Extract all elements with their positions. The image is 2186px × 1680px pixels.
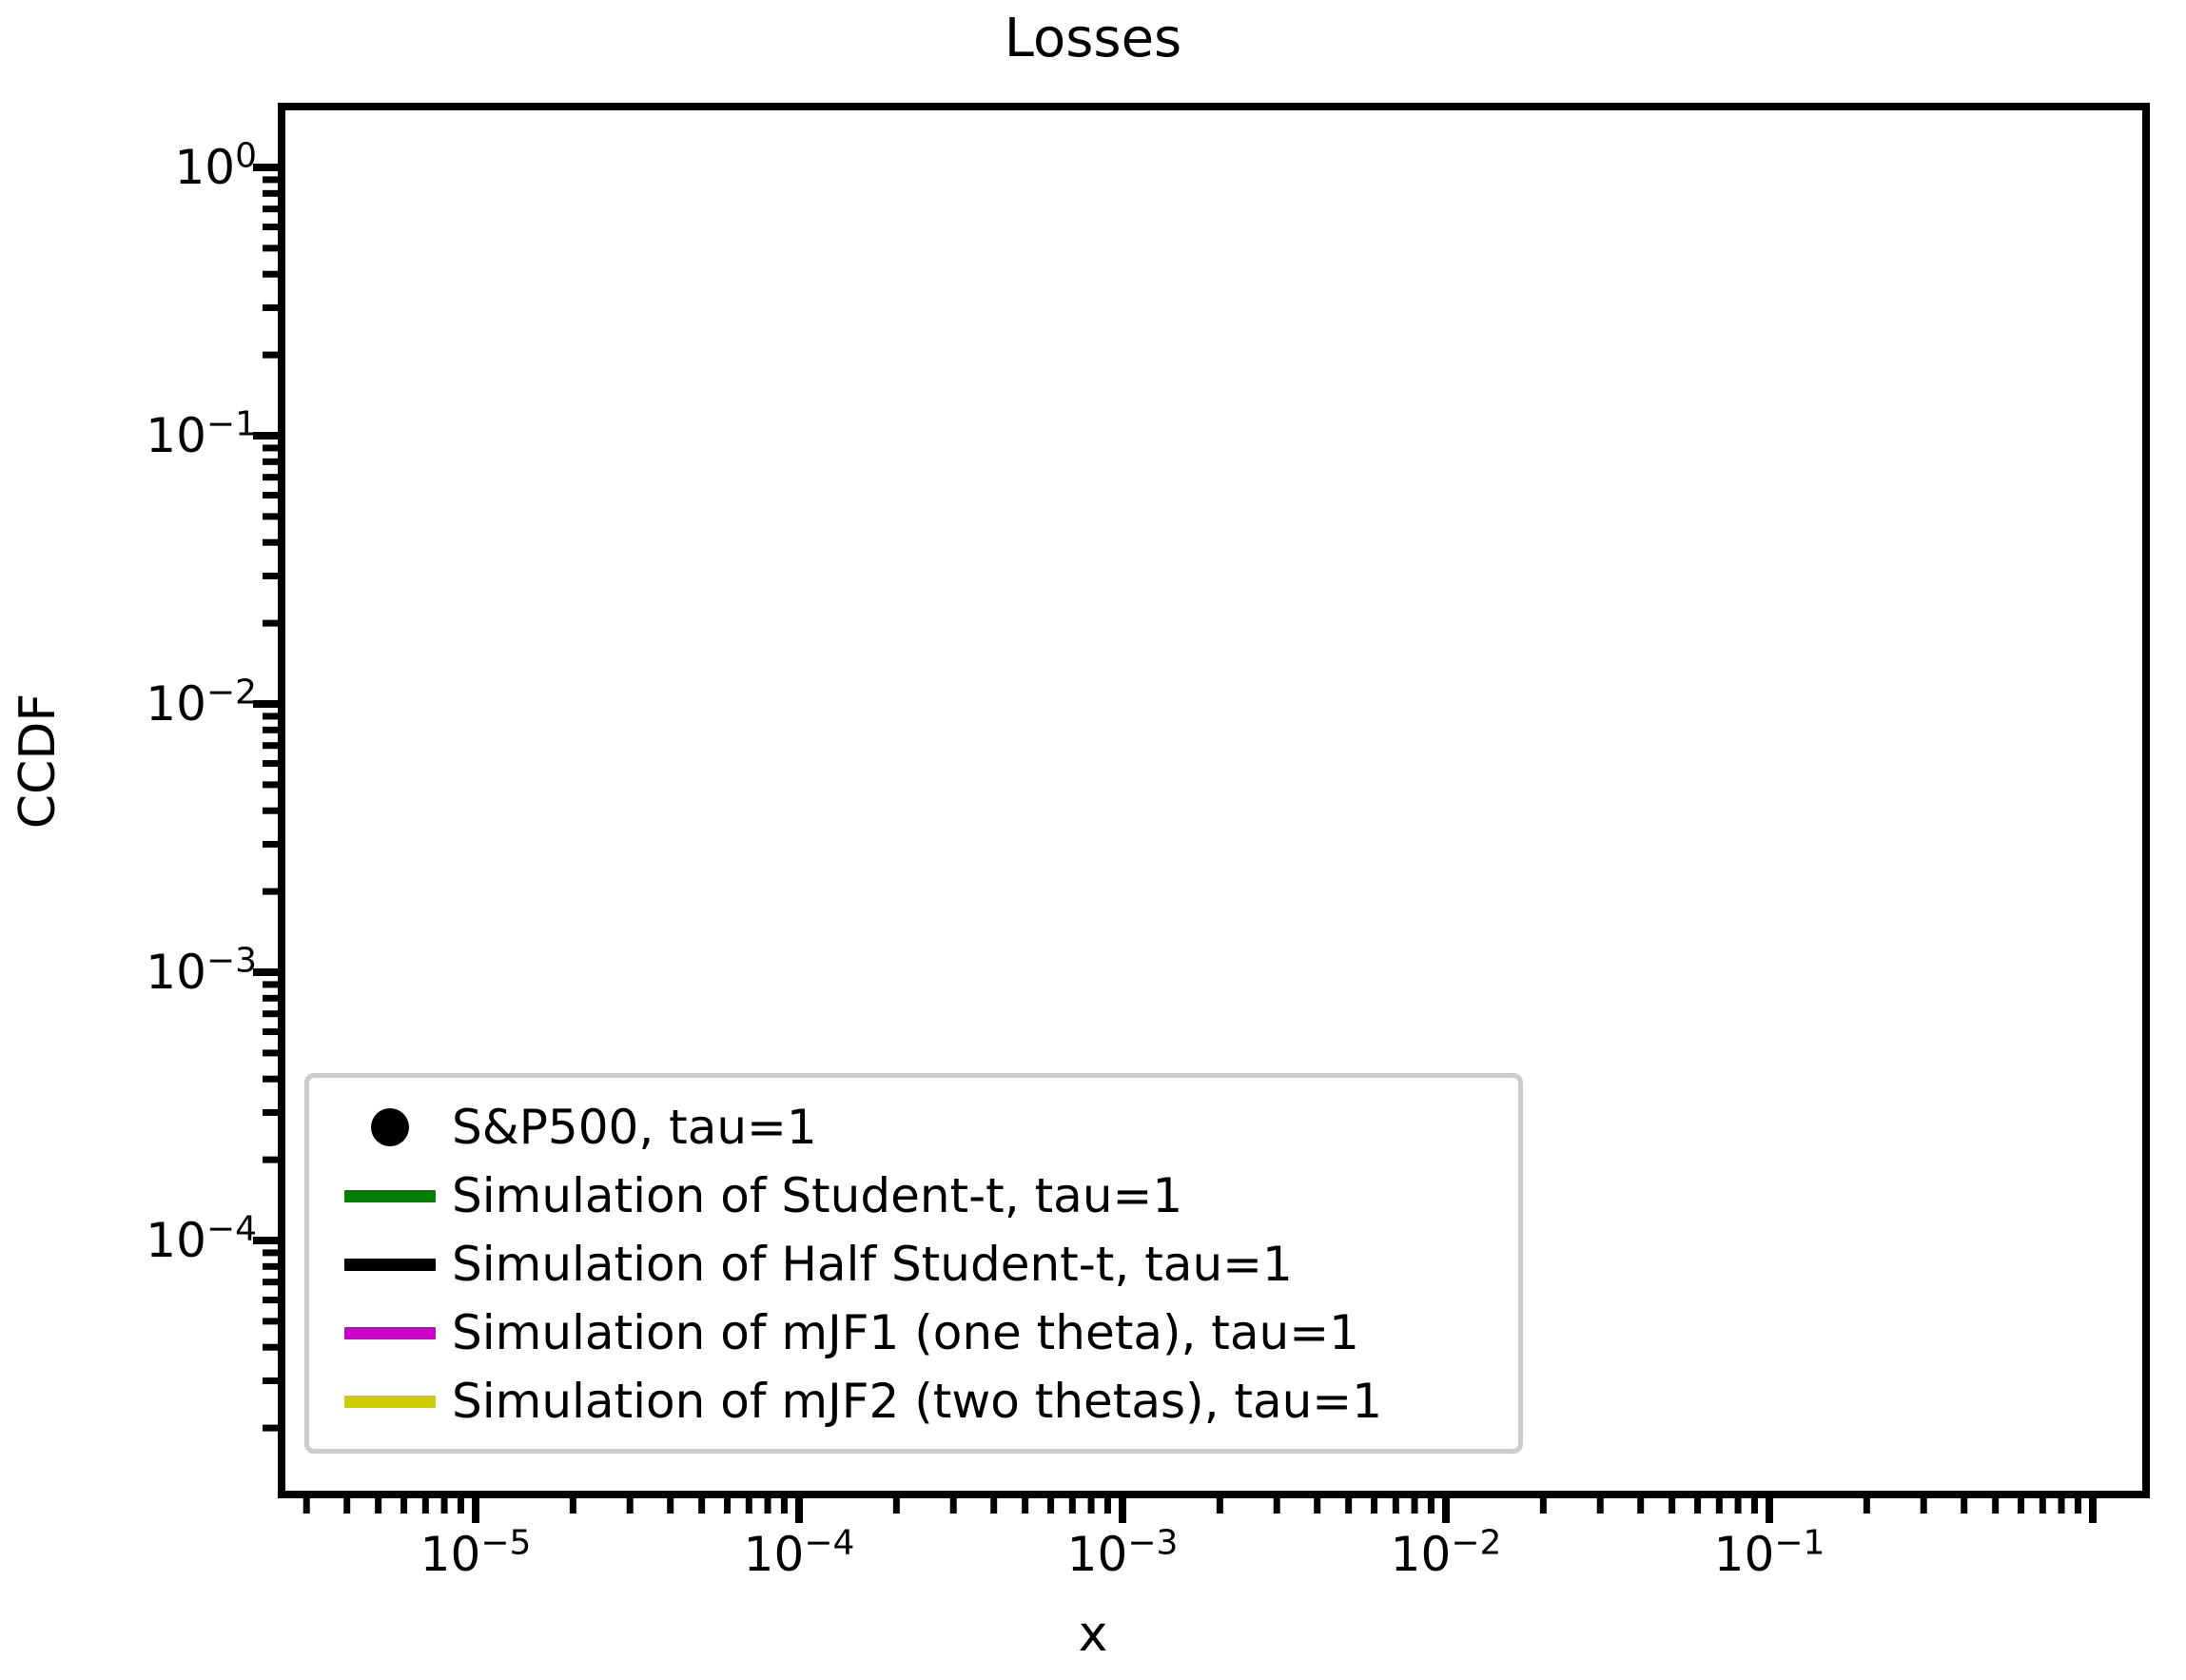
x-tick-label: 10−2 [1391,1527,1502,1582]
legend-item[interactable]: Simulation of Half Student-t, tau=1 [328,1230,1499,1299]
legend-line-swatch-icon [344,1259,436,1271]
legend[interactable]: S&P500, tau=1Simulation of Student-t, ta… [304,1073,1523,1454]
legend-item[interactable]: S&P500, tau=1 [328,1093,1499,1162]
legend-line-swatch-icon [344,1396,436,1408]
legend-item[interactable]: Simulation of mJF1 (one theta), tau=1 [328,1299,1499,1367]
legend-line-swatch-icon [344,1327,436,1339]
x-tick-label: 10−4 [744,1527,855,1582]
legend-key-line [328,1396,452,1408]
legend-key-line [328,1190,452,1202]
legend-item-label: Simulation of Half Student-t, tau=1 [452,1240,1293,1288]
x-tick-label: 10−3 [1067,1527,1179,1582]
x-tick-label: 10−5 [420,1527,532,1582]
x-axis-label: x [0,1606,2186,1663]
legend-key-line [328,1327,452,1339]
legend-line-swatch-icon [344,1190,436,1202]
legend-key-marker [328,1108,452,1146]
chart-figure: Losses 10010−110−210−310−4 CCDF 10−510−4… [0,0,2186,1680]
legend-item[interactable]: Simulation of Student-t, tau=1 [328,1162,1499,1230]
legend-item[interactable]: Simulation of mJF2 (two thetas), tau=1 [328,1367,1499,1436]
x-tick-label: 10−1 [1714,1527,1825,1582]
legend-marker-dot-icon [371,1108,409,1146]
legend-item-label: Simulation of mJF1 (one theta), tau=1 [452,1309,1359,1357]
legend-item-label: Simulation of Student-t, tau=1 [452,1172,1182,1220]
legend-item-label: S&P500, tau=1 [452,1104,817,1151]
legend-item-label: Simulation of mJF2 (two thetas), tau=1 [452,1377,1382,1425]
legend-key-line [328,1259,452,1271]
